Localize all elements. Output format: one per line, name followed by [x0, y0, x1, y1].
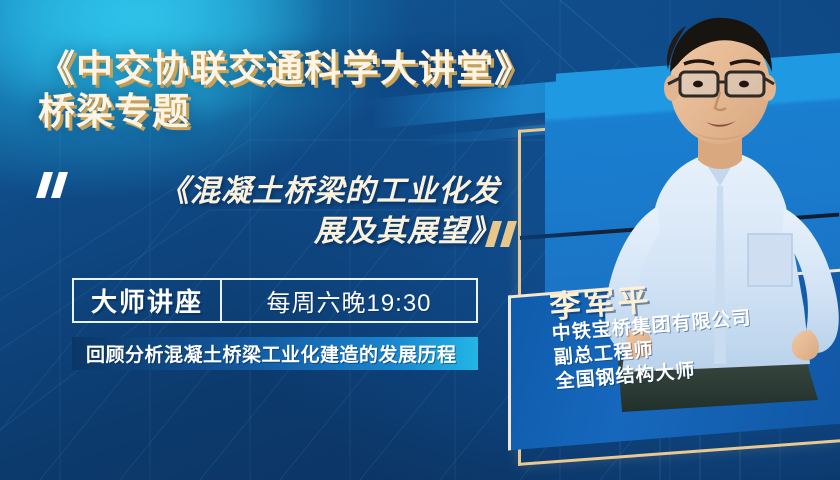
lecture-label: 大师讲座 — [74, 282, 220, 319]
main-title: 《中交协联交通科学大讲堂》 桥梁专题 — [38, 48, 558, 134]
subtitle-line-2: 展及其展望》 — [80, 212, 500, 252]
description-text: 回顾分析混凝土桥梁工业化建造的发展历程 — [86, 340, 457, 367]
quote-open-icon — [38, 172, 72, 198]
lecture-schedule: 每周六晚19:30 — [222, 283, 476, 318]
lecture-subtitle: 《混凝土桥梁的工业化发 展及其展望》 — [80, 172, 500, 251]
speaker-info-text: 李军平 中铁宝桥集团有限公司 副总工程师 全国钢结构大师 — [524, 260, 840, 435]
main-title-line-2: 桥梁专题 — [38, 91, 558, 134]
main-title-line-1: 《中交协联交通科学大讲堂》 — [38, 48, 558, 91]
description-bar: 回顾分析混凝土桥梁工业化建造的发展历程 — [72, 337, 478, 370]
subtitle-line-1: 《混凝土桥梁的工业化发 — [80, 172, 500, 212]
poster-canvas: 李军平 中铁宝桥集团有限公司 副总工程师 全国钢结构大师 《中交协联交通科学大讲… — [0, 0, 840, 480]
lecture-schedule-box: 大师讲座 每周六晚19:30 — [72, 278, 478, 323]
